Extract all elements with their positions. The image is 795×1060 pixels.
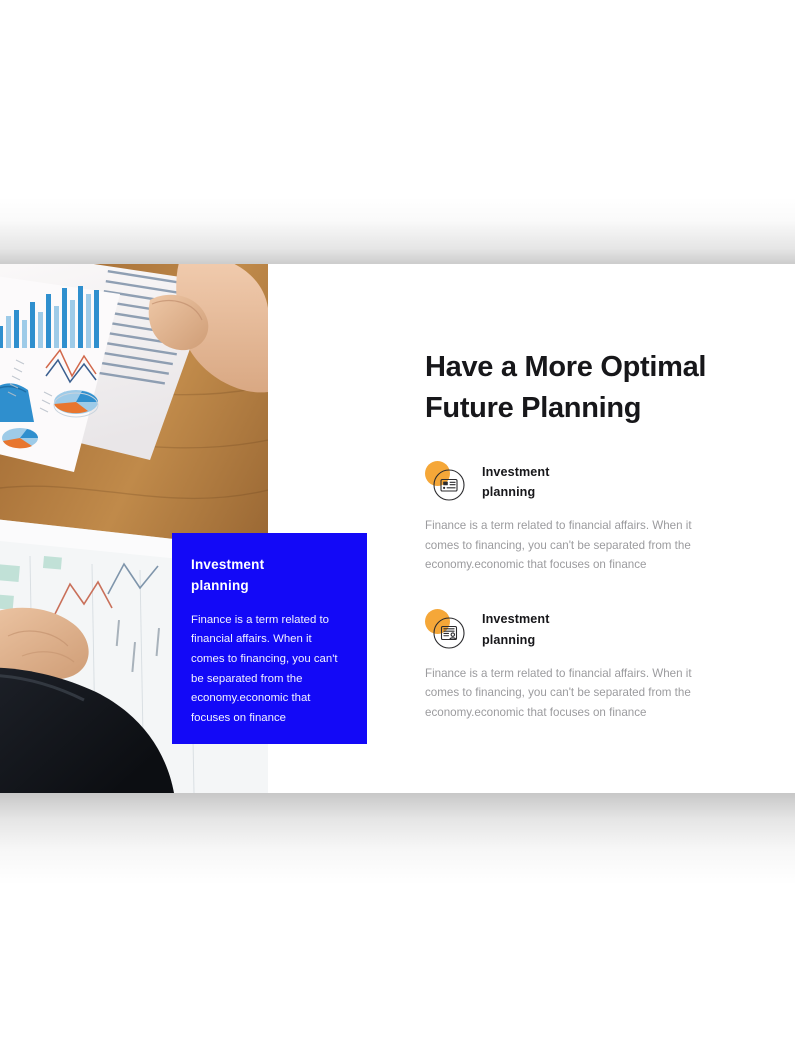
feature-1-title: Investment planning: [482, 462, 550, 503]
overlay-card-body: Finance is a term related to financial a…: [191, 611, 348, 729]
slide: Investment planning Finance is a term re…: [0, 264, 795, 793]
investment-planning-overlay-card: Investment planning Finance is a term re…: [172, 533, 367, 744]
slide-bottom-shadow: [0, 793, 795, 885]
feature-1-header: Investment planning: [425, 461, 755, 503]
content-column: Have a More Optimal Future Planning: [425, 264, 755, 793]
feature-2-header: Investment planning: [425, 609, 755, 651]
document-user-icon: [425, 609, 467, 651]
page-title: Have a More Optimal Future Planning: [425, 264, 755, 429]
feature-2-title: Investment planning: [482, 609, 550, 650]
slide-top-shadow: [0, 196, 795, 264]
feature-item-2: Investment planning Finance is a term re…: [425, 609, 755, 722]
document-card-icon: [425, 461, 467, 503]
feature-item-1: Investment planning Finance is a term re…: [425, 461, 755, 574]
feature-2-body: Finance is a term related to financial a…: [425, 664, 715, 722]
feature-1-body: Finance is a term related to financial a…: [425, 516, 715, 574]
overlay-card-title: Investment planning: [191, 555, 348, 597]
